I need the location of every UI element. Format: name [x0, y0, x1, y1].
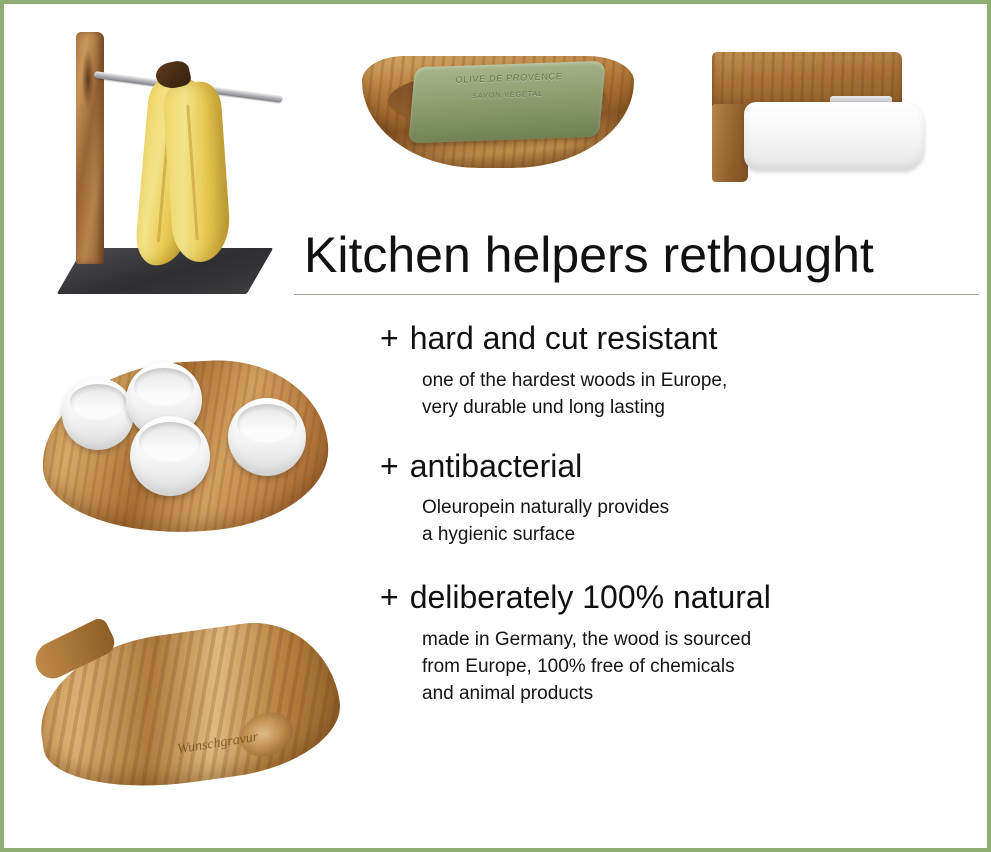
- banana-ridge: [186, 104, 199, 241]
- feature-title: deliberately 100% natural: [410, 579, 771, 615]
- page-title: Kitchen helpers rethought: [304, 230, 874, 280]
- soap-emboss-line-2: SAVON VEGETAL: [412, 89, 603, 103]
- ceramic-bowl: [62, 378, 134, 450]
- feature-item-hard-and-cut-resistant: +hard and cut resistant one of the harde…: [380, 320, 970, 422]
- olive-wood-post: [76, 32, 104, 264]
- bowl-rim: [237, 404, 298, 443]
- dispenser-wood-leg: [712, 104, 748, 182]
- feature-title: antibacterial: [410, 448, 583, 484]
- feature-heading: +antibacterial: [380, 448, 970, 486]
- ceramic-bowl: [228, 398, 306, 476]
- bowl-rim: [139, 422, 201, 462]
- promo-banner: OLIVE DE PROVENCE SAVON VEGETAL Wunschgr…: [0, 0, 991, 852]
- feature-description: Oleuropein naturally provides a hygienic…: [422, 495, 970, 549]
- soap-bar: OLIVE DE PROVENCE SAVON VEGETAL: [408, 61, 605, 144]
- feature-list: +hard and cut resistant one of the harde…: [380, 320, 970, 728]
- plus-icon: +: [380, 579, 399, 615]
- title-divider: [294, 294, 979, 295]
- product-image-soap-dish: OLIVE DE PROVENCE SAVON VEGETAL: [356, 30, 646, 182]
- plus-icon: +: [380, 448, 399, 484]
- ceramic-bowl: [130, 416, 210, 496]
- plus-icon: +: [380, 320, 399, 356]
- feature-heading: +deliberately 100% natural: [380, 579, 970, 617]
- bowl-rim: [134, 368, 193, 406]
- product-image-cutting-board: Wunschgravur: [29, 608, 349, 808]
- bowl-rim: [70, 384, 126, 420]
- feature-item-antibacterial: +antibacterial Oleuropein naturally prov…: [380, 448, 970, 550]
- feature-heading: +hard and cut resistant: [380, 320, 970, 358]
- feature-description: one of the hardest woods in Europe, very…: [422, 368, 970, 422]
- white-film-roll: [744, 102, 924, 170]
- product-image-banana-holder: [52, 26, 302, 306]
- feature-item-deliberately-natural: +deliberately 100% natural made in Germa…: [380, 579, 970, 708]
- feature-description: made in Germany, the wood is sourced fro…: [422, 627, 970, 708]
- soap-emboss-line-1: OLIVE DE PROVENCE: [413, 70, 605, 87]
- feature-title: hard and cut resistant: [410, 320, 718, 356]
- product-image-wrap-dispenser: [710, 48, 970, 188]
- product-image-bowls-board: [34, 340, 334, 555]
